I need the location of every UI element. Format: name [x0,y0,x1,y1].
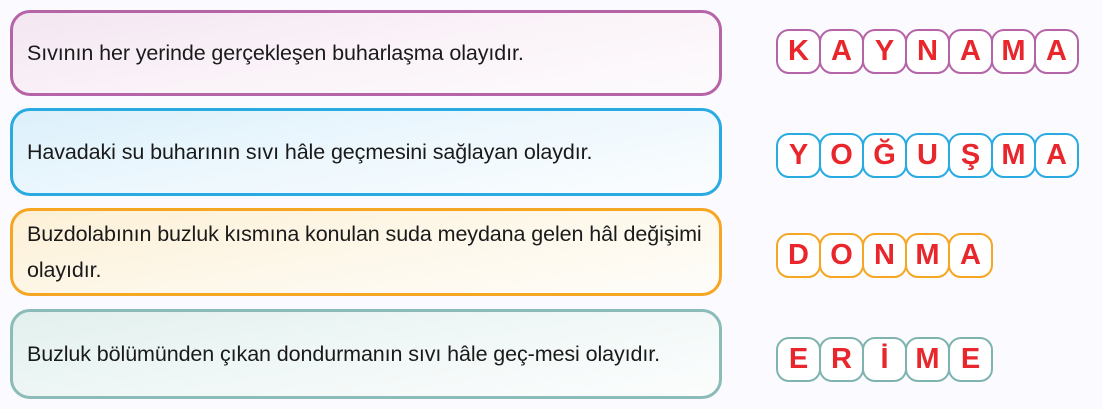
answer-word-kaynama[interactable]: K A Y N A M A [776,29,1079,74]
letter-tile[interactable]: U [905,133,950,178]
definition-text: Buzluk bölümünden çıkan dondurmanın sıvı… [13,336,719,372]
letter-tile[interactable]: D [776,233,821,278]
letter-tile[interactable]: M [991,133,1036,178]
definition-text: Sıvının her yerinde gerçekleşen buharlaş… [13,35,719,71]
definition-card-yogusma[interactable]: Havadaki su buharının sıvı hâle geçmesin… [10,108,722,196]
letter-tile[interactable]: N [862,233,907,278]
letter-tile[interactable]: Y [862,29,907,74]
answer-word-erime[interactable]: E R İ M E [776,337,993,382]
letter-tile[interactable]: İ [862,337,907,382]
letter-tile[interactable]: M [905,337,950,382]
definition-card-erime[interactable]: Buzluk bölümünden çıkan dondurmanın sıvı… [10,309,722,399]
letter-tile[interactable]: Ş [948,133,993,178]
answer-word-yogusma[interactable]: Y O Ğ U Ş M A [776,133,1079,178]
letter-tile[interactable]: M [991,29,1036,74]
definition-text: Havadaki su buharının sıvı hâle geçmesin… [13,134,719,170]
letter-tile[interactable]: A [948,233,993,278]
letter-tile[interactable]: O [819,133,864,178]
letter-tile[interactable]: A [948,29,993,74]
letter-tile[interactable]: M [905,233,950,278]
letter-tile[interactable]: A [1034,29,1079,74]
letter-tile[interactable]: R [819,337,864,382]
letter-tile[interactable]: E [948,337,993,382]
letter-tile[interactable]: N [905,29,950,74]
letter-tile[interactable]: A [1034,133,1079,178]
letter-tile[interactable]: Ğ [862,133,907,178]
answer-word-donma[interactable]: D O N M A [776,233,993,278]
letter-tile[interactable]: Y [776,133,821,178]
definition-column: Sıvının her yerinde gerçekleşen buharlaş… [10,0,724,409]
letter-tile[interactable]: E [776,337,821,382]
definition-card-donma[interactable]: Buzdolabının buzluk kısmına konulan suda… [10,208,722,296]
letter-tile[interactable]: A [819,29,864,74]
letter-tile[interactable]: K [776,29,821,74]
letter-tile[interactable]: O [819,233,864,278]
definition-card-kaynama[interactable]: Sıvının her yerinde gerçekleşen buharlaş… [10,10,722,96]
state-change-matching-worksheet: Sıvının her yerinde gerçekleşen buharlaş… [0,0,1102,409]
definition-text: Buzdolabının buzluk kısmına konulan suda… [13,216,719,288]
answer-column: K A Y N A M A Y O Ğ U Ş M A D O N M A E … [776,0,1102,409]
